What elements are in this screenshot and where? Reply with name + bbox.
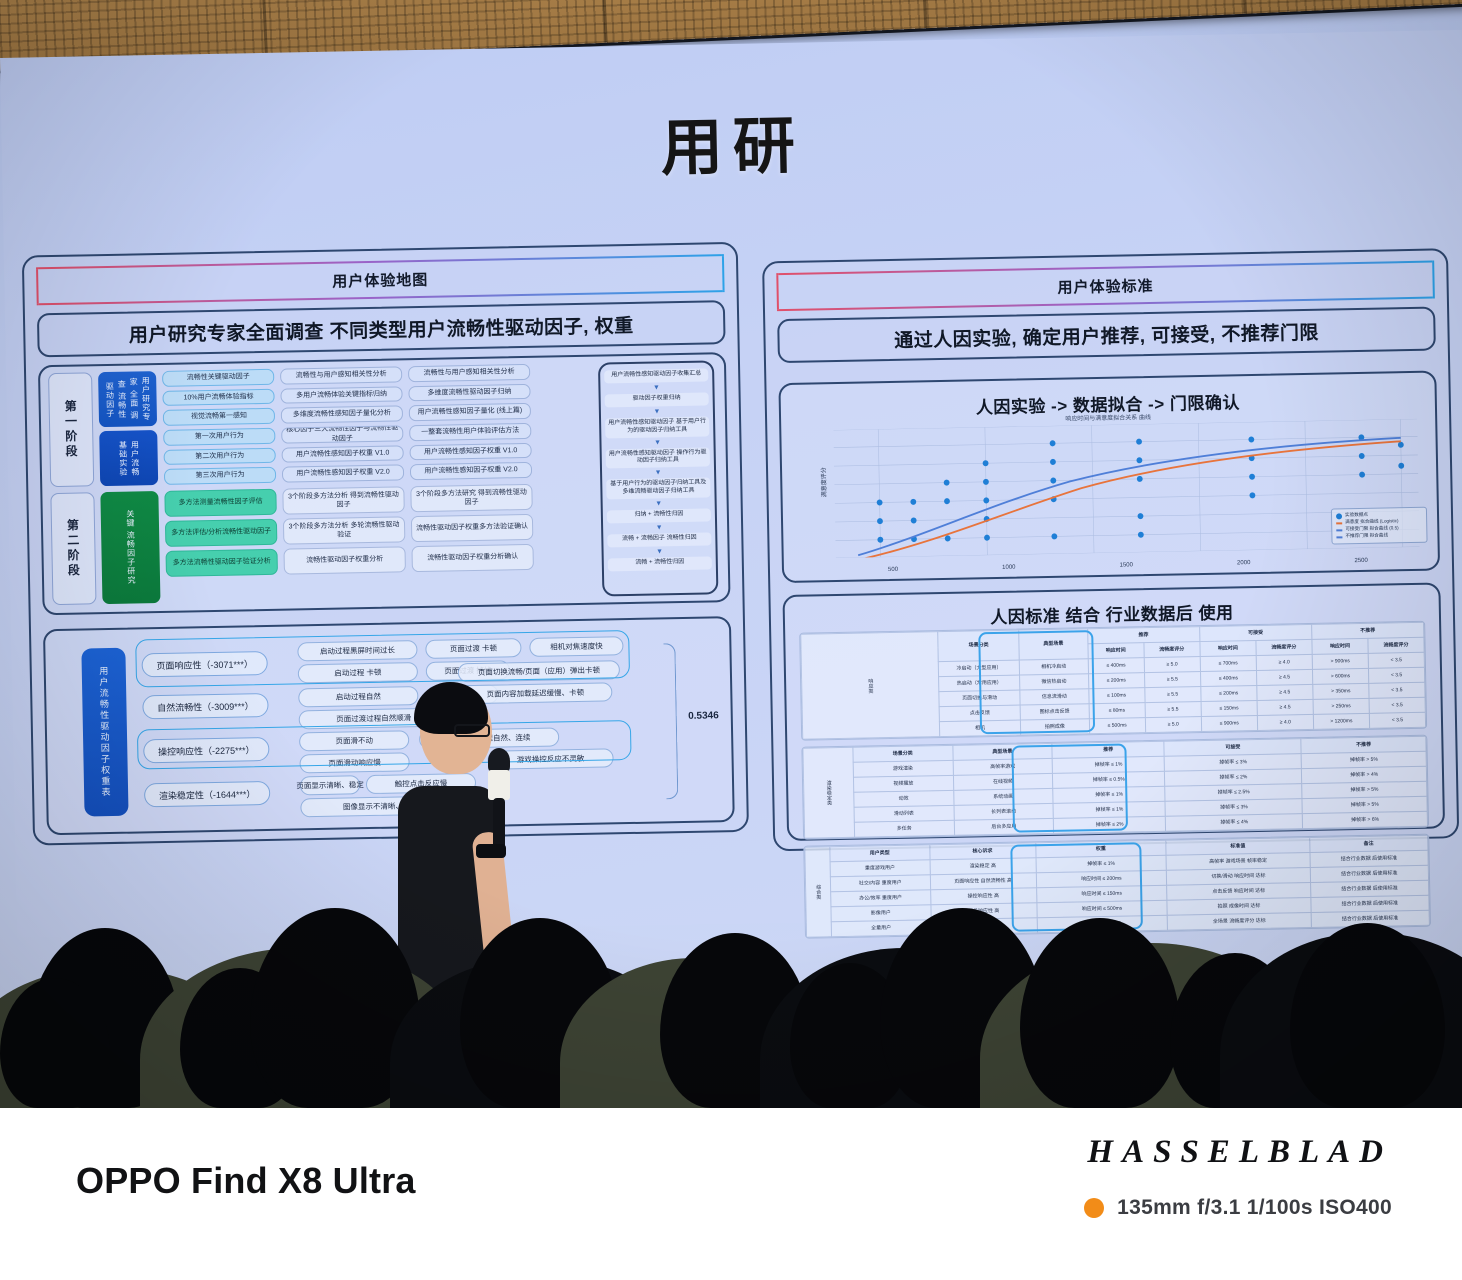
- table-cell: ≤ 400ms: [1088, 658, 1144, 674]
- left-panel-subtitle: 用户研究专家全面调查 不同类型用户流畅性驱动因子, 权重: [37, 300, 726, 357]
- matrix-cell: 流畅性与用户感知相关性分析: [280, 366, 402, 384]
- slide-canvas: 用户体验地图 用户研究专家全面调查 不同类型用户流畅性驱动因子, 权重 第一阶段…: [22, 228, 1459, 855]
- arrow-down-icon: ▼: [655, 470, 662, 477]
- flow-step: 基于用户行为的驱动因子归纳工具及 多维流畅驱动因子归纳工具: [606, 478, 710, 500]
- table-cell: ≥ 4.5: [1256, 669, 1312, 685]
- table-cell: 拍照成像: [1021, 719, 1090, 735]
- left-panel-ribbon-title: 用户体验地图: [36, 254, 725, 305]
- right-panel-subtitle: 通过人因实验, 确定用户推荐, 可接受, 不推荐门限: [777, 306, 1436, 363]
- legend-line-icon: [1336, 536, 1342, 538]
- x-tick: 2000: [1237, 560, 1250, 566]
- matrix-cell: 3个阶段多方法分析 得到流畅性驱动因子: [282, 486, 404, 514]
- table-cell: 点击反馈: [939, 705, 1020, 722]
- mindmap-leaf: 页面显示清晰、稳定: [300, 775, 360, 795]
- mindmap-branch: 自然流畅性（-3009***）: [142, 693, 268, 719]
- table-cell: ≥ 5.5: [1144, 672, 1200, 688]
- matrix-cell: 用户流畅性感知因子权重 V1.0: [282, 445, 404, 463]
- matrix-cell: 多维度流畅性感知因子量化分析: [281, 406, 403, 424]
- table-cell: > 250ms: [1313, 698, 1369, 714]
- legend-dot-icon: [1336, 513, 1342, 519]
- table-cell: ≤ 150ms: [1201, 700, 1257, 716]
- glasses-icon: [454, 724, 490, 737]
- matrix-cell: 多维度流畅性驱动因子归纳: [408, 384, 530, 402]
- matrix-cell: 流畅性驱动因子权重多方法验证确认: [411, 514, 533, 542]
- table-cell: < 3.5: [1369, 682, 1425, 698]
- table-header: 典型场景: [1019, 629, 1088, 660]
- matrix-cell: 多方法评估/分析流畅性驱动因子: [165, 519, 277, 547]
- flow-step: 用户流畅性感知驱动因子收集汇总: [604, 368, 708, 383]
- mindmap-branch: 页面响应性（-3071***）: [141, 651, 267, 677]
- table-subheader: 流畅度评分: [1144, 642, 1200, 658]
- matrix-cell: 用户流畅性感知因子权重 V2.0: [282, 465, 404, 483]
- x-tick: 1500: [1120, 562, 1133, 568]
- mindmap-leaf: 启动过程黑屏时间过长: [297, 640, 417, 661]
- audience: [0, 808, 1462, 1108]
- mindmap-brace: [663, 643, 678, 799]
- matrix-cell: 用户流畅性感知因子权重 V1.0: [410, 443, 532, 461]
- table-cell: 微信热启动: [1020, 674, 1089, 690]
- table-header: 场景分类: [938, 630, 1020, 662]
- mindmap-branch: 渲染稳定性（-1644***）: [144, 781, 270, 807]
- flow-step: 流畅 + 流畅性归因: [608, 556, 712, 571]
- device-name: OPPO Find X8 Ultra: [76, 1160, 416, 1202]
- chart-y-axis-label: 满意度评分: [819, 467, 829, 497]
- matrix-cell: 流畅性驱动因子权重分析: [283, 546, 405, 574]
- table-cell: ≤ 200ms: [1088, 673, 1144, 689]
- slide-title: 用研: [1, 82, 1462, 200]
- flow-column: 用户流畅性感知驱动因子收集汇总 ▼ 驱动因子权重归纳 ▼ 用户流畅性感知驱动因子…: [598, 360, 718, 596]
- table-cell: ≥ 4.5: [1257, 684, 1313, 700]
- table-cell: < 3.5: [1368, 667, 1424, 683]
- arrow-down-icon: ▼: [653, 384, 660, 391]
- standards-tables-box: 人因标准 结合 行业数据后 使用 响应类 场景分类 典型场景 推荐: [782, 582, 1445, 841]
- matrix-cell: 第二次用户行为: [164, 447, 276, 465]
- microphone-body: [488, 770, 510, 800]
- matrix-cell: 3个阶段多方法分析 多轮流畅性驱动验证: [283, 516, 405, 544]
- flow-step: 用户流畅性感知驱动因子 操作行为驱动因子归纳工具: [606, 447, 710, 469]
- arrow-down-icon: ▼: [654, 439, 661, 446]
- flow-step: 流畅 + 流畅因子 流畅性归因: [607, 532, 711, 547]
- legend-label: 不推荐门限 拟合曲线: [1345, 533, 1388, 541]
- arrow-down-icon: ▼: [656, 548, 663, 555]
- matrix-cell: 视觉流畅第一感知: [163, 408, 275, 426]
- human-factors-chart-box: 人因实验 -> 数据拟合 -> 门限确认 响应时间与满意度拟合关系 曲线 满意度…: [778, 370, 1440, 583]
- table-subheader: 流畅度评分: [1368, 637, 1424, 653]
- table-cell: 冷启动（大型应用）: [938, 660, 1019, 677]
- table-cell: 相机: [940, 720, 1021, 737]
- table-cell: ≥ 5.0: [1144, 657, 1200, 673]
- table-cell: > 350ms: [1313, 683, 1369, 699]
- table-cell: ≥ 5.0: [1145, 717, 1201, 733]
- table-cell: < 3.5: [1369, 712, 1425, 728]
- mindmap-branch: 操控响应性（-2275***）: [143, 737, 269, 763]
- table-cell: > 600ms: [1312, 668, 1368, 684]
- matrix-cell: 流畅性与用户感知相关性分析: [408, 364, 530, 382]
- exif-text: 135mm f/3.1 1/100s ISO400: [1117, 1196, 1392, 1220]
- flow-step: 用户流畅性感知驱动因子 基于用户行为的驱动因子归纳工具: [605, 416, 709, 438]
- table-cell: < 3.5: [1369, 697, 1425, 713]
- mindmap-leaf: 页面过渡 卡顿: [425, 638, 521, 659]
- matrix-cell: 第一次用户行为: [163, 428, 275, 446]
- mindmap-score: 0.5346: [688, 710, 719, 722]
- table-cell: ≤ 80ms: [1089, 703, 1145, 719]
- legend-line-icon: [1336, 529, 1342, 531]
- chart-x-ticks: 500 1000 1500 2000 2500: [836, 557, 1420, 574]
- flow-step: 驱动因子权重归纳: [605, 392, 709, 407]
- category-chip-2: 用户流畅 基础实验: [99, 430, 158, 486]
- mindmap-leaf: 页面切换流畅/页面（应用）弹出卡顿: [458, 660, 620, 682]
- table-cell: < 3.5: [1368, 652, 1424, 668]
- matrix-cell: 第三次用户行为: [164, 467, 276, 485]
- table-cell: 信息流滑动: [1020, 689, 1089, 705]
- photo-info-bar: OPPO Find X8 Ultra HASSELBLAD 135mm f/3.…: [0, 1108, 1462, 1280]
- table-subheader: 响应时间: [1200, 641, 1256, 657]
- stage-label-1: 第一阶段: [48, 372, 94, 487]
- matrix-cell: 多方法测量流畅性因子评估: [164, 489, 276, 517]
- category-chip-1: 用户研究专家 全面 调查 流畅性驱动因子: [98, 371, 157, 427]
- table-cell: ≤ 900ms: [1201, 715, 1257, 731]
- table-cell: ≥ 4.0: [1256, 654, 1312, 670]
- matrix-cell: 用户流畅性感知因子权重 V2.0: [410, 462, 532, 480]
- x-tick: 500: [888, 567, 898, 573]
- right-panel: 用户体验标准 通过人因实验, 确定用户推荐, 可接受, 不推荐门限 人因实验 -…: [762, 248, 1459, 851]
- orange-dot-icon: [1084, 1198, 1104, 1218]
- matrix-cell: 多用户流畅体验关键指标归纳: [280, 386, 402, 404]
- matrix-cell: 流畅性关键驱动因子: [162, 369, 274, 387]
- presentation-screen: 用研 用户体验地图 用户研究专家全面调查 不同类型用户流畅性驱动因子, 权重 第…: [0, 30, 1462, 938]
- table-subheader: 流畅度评分: [1256, 639, 1312, 655]
- table-cell: > 1200ms: [1313, 713, 1369, 729]
- table-cell: ≤ 700ms: [1200, 655, 1256, 671]
- arrow-down-icon: ▼: [656, 524, 663, 531]
- table-cell: ≥ 4.0: [1257, 714, 1313, 730]
- table-cell: ≥ 5.5: [1144, 687, 1200, 703]
- x-tick: 1000: [1002, 565, 1015, 571]
- driver-weight-mindmap: 用户流畅性驱动因子权重表 页面响应性（-3071***） 自然流畅性（-3009…: [43, 616, 735, 835]
- category-chip-3: 关键 流畅因子研究: [100, 491, 160, 604]
- mindmap-leaf: 相机对焦速度快: [529, 636, 623, 657]
- table-cell: ≤ 200ms: [1201, 685, 1257, 701]
- table-cell: 热启动（常用应用）: [939, 675, 1020, 692]
- chart-legend: 实验数据点 满意度 拟合曲线 (Logistic) 可接受门限 拟合曲线 (0.…: [1331, 507, 1428, 544]
- table-cell: 相机冷启动: [1019, 659, 1088, 675]
- flow-step: 归纳 + 流畅性归因: [607, 508, 711, 523]
- table-cell: ≥ 4.5: [1257, 699, 1313, 715]
- mindmap-root: 用户流畅性驱动因子权重表: [81, 648, 128, 817]
- table-subheader: 响应时间: [1312, 638, 1368, 654]
- table-cell: ≥ 5.5: [1145, 702, 1201, 718]
- exif-row: 135mm f/3.1 1/100s ISO400: [1084, 1196, 1392, 1220]
- stage-label-2: 第二阶段: [50, 492, 96, 605]
- table-row-head: 响应类: [801, 632, 940, 740]
- matrix-cell: 用户流畅性感知因子量化 (线上篇): [409, 403, 531, 421]
- left-panel: 用户体验地图 用户研究专家全面调查 不同类型用户流畅性驱动因子, 权重 第一阶段…: [22, 242, 749, 846]
- x-tick: 2500: [1354, 558, 1367, 564]
- legend-line-icon: [1336, 522, 1342, 524]
- matrix-cell: 流畅性驱动因子权重分析确认: [411, 544, 533, 572]
- legend-item: 不推荐门限 拟合曲线: [1336, 532, 1422, 541]
- conference-photo: 用研 用户体验地图 用户研究专家全面调查 不同类型用户流畅性驱动因子, 权重 第…: [0, 0, 1462, 1108]
- table-subheader: 响应时间: [1088, 643, 1144, 659]
- table-cell: ≤ 500ms: [1089, 718, 1145, 734]
- mindmap-leaf: 启动过程 卡顿: [298, 662, 418, 683]
- table-cell: ≤ 100ms: [1088, 688, 1144, 704]
- response-standards-table: 响应类 场景分类 典型场景 推荐 可接受 不推荐 响应时间 流畅度评分: [799, 621, 1427, 741]
- matrix-cell: 多方法流畅性驱动因子验证分析: [165, 549, 277, 577]
- arrow-down-icon: ▼: [653, 408, 660, 415]
- table-cell: 页面切换与滑动: [939, 690, 1020, 707]
- table-cell: 图标点击反馈: [1020, 704, 1089, 720]
- stage-matrix: 第一阶段 用户研究专家 全面 调查 流畅性驱动因子 用户流畅 基础实验 流畅性关…: [38, 352, 731, 615]
- right-panel-ribbon-title: 用户体验标准: [776, 261, 1435, 312]
- matrix-cell: 一整套流畅性用户体验评估方法: [409, 423, 531, 441]
- table-cell: > 900ms: [1312, 653, 1368, 669]
- matrix-cell: 3个阶段多方法研究 得到流畅性驱动因子: [410, 484, 532, 512]
- matrix-cell: 10%用户流畅体验指标: [162, 388, 274, 406]
- table-cell: ≤ 400ms: [1200, 670, 1256, 686]
- matrix-cell: 核心因子三大流畅性因子与流畅性驱动因子: [281, 425, 403, 443]
- arrow-down-icon: ▼: [655, 500, 662, 507]
- hasselblad-wordmark: HASSELBLAD: [1087, 1134, 1392, 1171]
